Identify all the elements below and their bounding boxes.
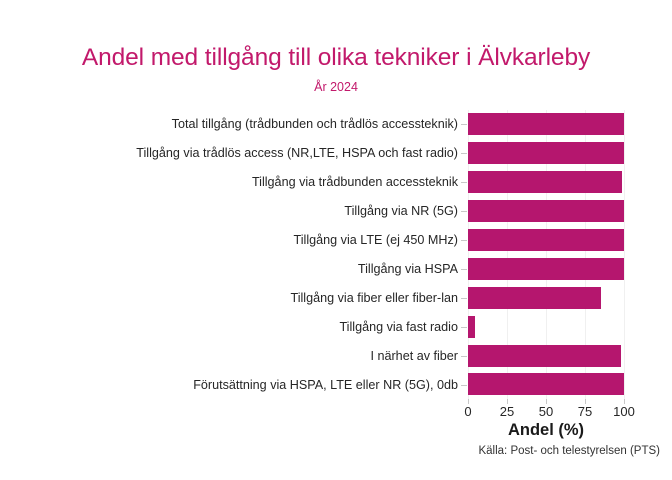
bar-row[interactable] [468, 168, 624, 197]
chart-title: Andel med tillgång till olika tekniker i… [0, 44, 672, 72]
y-axis-label: Tillgång via fast radio [0, 312, 458, 341]
y-axis-tick [461, 298, 467, 299]
y-axis-label: Tillgång via trådlös access (NR,LTE, HSP… [0, 139, 458, 168]
bar-row[interactable] [468, 312, 624, 341]
source-note: Källa: Post- och telestyrelsen (PTS) [0, 445, 660, 457]
y-axis-label: Tillgång via LTE (ej 450 MHz) [0, 226, 458, 255]
x-axis-title: Andel (%) [468, 421, 624, 440]
y-axis-label: Tillgång via trådbunden accessteknik [0, 168, 458, 197]
bar-row[interactable] [468, 341, 624, 370]
bar-row[interactable] [468, 370, 624, 399]
gridline [624, 110, 625, 399]
bar[interactable] [468, 113, 624, 135]
y-axis-label: Total tillgång (trådbunden och trådlös a… [0, 110, 458, 139]
chart-figure: Andel med tillgång till olika tekniker i… [0, 0, 672, 480]
bar-row[interactable] [468, 283, 624, 312]
bar-row[interactable] [468, 139, 624, 168]
bar[interactable] [468, 171, 622, 193]
y-axis-tick [461, 124, 467, 125]
x-axis-tick-label: 50 [539, 404, 553, 419]
bar[interactable] [468, 287, 601, 309]
bar[interactable] [468, 200, 624, 222]
y-axis-tick [461, 356, 467, 357]
y-axis-label: Tillgång via fiber eller fiber-lan [0, 283, 458, 312]
y-axis-tick [461, 327, 467, 328]
y-axis-labels: Total tillgång (trådbunden och trådlös a… [0, 110, 458, 399]
y-axis-tick [461, 211, 467, 212]
bar-row[interactable] [468, 226, 624, 255]
plot-area [468, 110, 624, 399]
bar-row[interactable] [468, 110, 624, 139]
y-axis-tick [461, 269, 467, 270]
y-axis-tick [461, 240, 467, 241]
bar[interactable] [468, 258, 624, 280]
bar-row[interactable] [468, 197, 624, 226]
chart-subtitle: År 2024 [0, 80, 672, 94]
bar[interactable] [468, 373, 624, 395]
x-axis-tick-label: 25 [500, 404, 514, 419]
x-axis-tick-label: 100 [613, 404, 635, 419]
y-axis-label: Tillgång via NR (5G) [0, 197, 458, 226]
y-axis-label: Förutsättning via HSPA, LTE eller NR (5G… [0, 370, 458, 399]
y-axis-label: I närhet av fiber [0, 341, 458, 370]
bar-row[interactable] [468, 255, 624, 284]
x-axis-tick-label: 75 [578, 404, 592, 419]
bar[interactable] [468, 142, 624, 164]
y-axis-label: Tillgång via HSPA [0, 255, 458, 284]
bar[interactable] [468, 229, 624, 251]
y-axis-tick [461, 385, 467, 386]
y-axis-tick [461, 153, 467, 154]
bar[interactable] [468, 345, 621, 367]
bar[interactable] [468, 316, 475, 338]
x-axis-tick-label: 0 [464, 404, 471, 419]
y-axis-tick [461, 182, 467, 183]
